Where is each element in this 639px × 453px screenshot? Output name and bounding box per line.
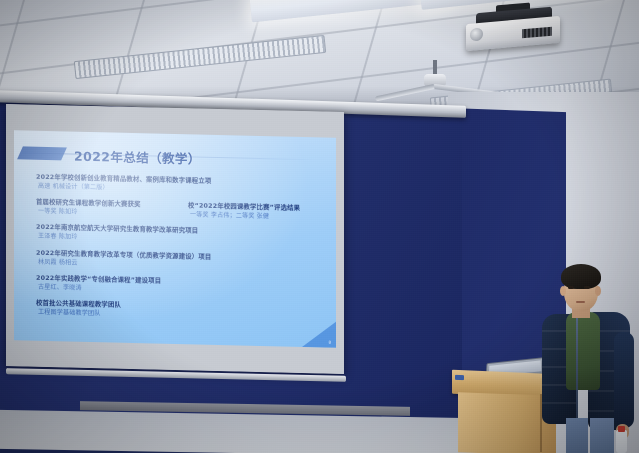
floor [0, 410, 470, 453]
water-bottle [616, 430, 627, 453]
right-arm [614, 332, 634, 428]
slide-block-main-right: 校“2022年校园课教学比赛”评选结果 [188, 202, 300, 213]
hair [561, 264, 601, 289]
slide-block: 2022年南京航空航天大学研究生教育教学改革研究项目 王泽春 陈加玲 [36, 223, 336, 248]
right-eye [584, 286, 590, 289]
jacket-zipper [576, 316, 578, 424]
slide-block: 首届校研究生课程教学创新大赛获奖 一等奖 陈如玲 校“2022年校园课教学比赛”… [36, 198, 336, 223]
slide-block-sub-right: 一等奖 李占伟；二等奖 张健 [188, 212, 300, 223]
slide-page-number: 8 [328, 340, 331, 345]
left-ear [560, 286, 566, 296]
slide-block: 2022年研究生教育教学改革专项（优质教学资源建设）项目 林凤霞 杨相云 [36, 248, 336, 273]
right-leg-jeans [590, 418, 614, 453]
slide-body: 2022年学校创新创业教育精品教材、案例库和数字课程立项 高速 机械设计（第二版… [36, 173, 336, 331]
slide-block: 2022年学校创新创业教育精品教材、案例库和数字课程立项 高速 机械设计（第二版… [36, 173, 336, 198]
projection-screen: 2022年总结（教学） 2022年学校创新创业教育精品教材、案例库和数字课程立项… [6, 104, 344, 374]
lecture-hall-photo: 2022年总结（教学） 2022年学校创新创业教育精品教材、案例库和数字课程立项… [0, 0, 639, 453]
green-sweater [566, 312, 600, 390]
ceiling-projector [466, 8, 562, 48]
slide-block-right-column: 校“2022年校园课教学比赛”评选结果 一等奖 李占伟；二等奖 张健 [188, 202, 300, 223]
mouth [576, 301, 585, 303]
left-leg-jeans [566, 418, 588, 453]
presentation-slide: 2022年总结（教学） 2022年学校创新创业教育精品教材、案例库和数字课程立项… [14, 130, 336, 348]
slide-block: 2022年实践教学“专创融合课程”建设项目 古星红、李晓涛 [36, 274, 336, 299]
podium-label-tag [455, 375, 464, 380]
bottle-cap [618, 426, 625, 432]
slide-block: 校首批公共基础课程教学团队 工程图学基础教学团队 [36, 299, 336, 324]
presenter [540, 258, 639, 453]
left-eye [568, 286, 574, 289]
right-ear [595, 286, 601, 296]
